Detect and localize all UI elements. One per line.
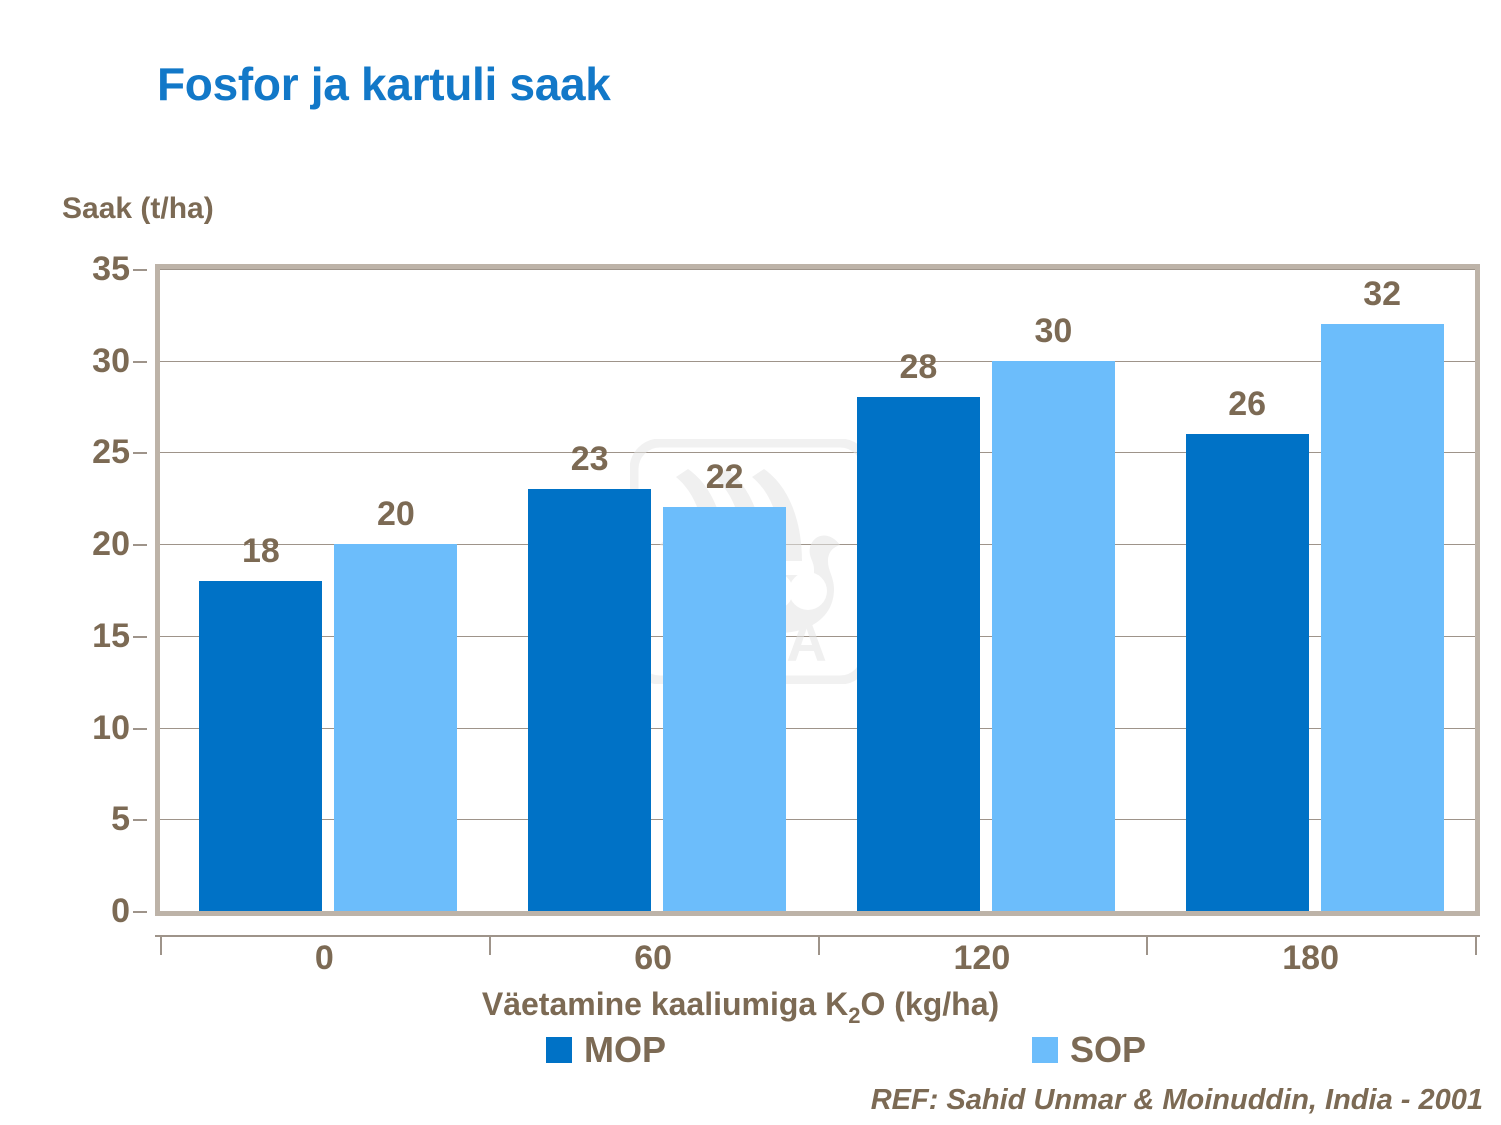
legend-swatch-mop	[546, 1037, 572, 1063]
legend-item-mop[interactable]: MOP	[546, 1032, 666, 1068]
x-axis-tick-label: 120	[922, 940, 1042, 977]
bar-value-label: 30	[992, 314, 1115, 348]
bar-sop-60[interactable]	[663, 507, 786, 911]
bar-value-label: 28	[857, 350, 980, 384]
y-axis-tick-mark	[133, 636, 147, 638]
plot-area: YARA 1820232228302632	[155, 264, 1480, 916]
y-axis-tick-mark	[133, 452, 147, 454]
bar-value-label: 18	[199, 534, 322, 568]
x-axis-title-subscript: 2	[848, 1003, 860, 1028]
x-axis-title: Väetamine kaaliumiga K2O (kg/ha)	[0, 986, 1501, 1023]
y-axis-ticks: 05101520253035	[30, 264, 130, 916]
legend-item-sop[interactable]: SOP	[1032, 1032, 1146, 1068]
y-axis-tick-label: 10	[50, 711, 130, 745]
x-axis-tick-mark	[160, 935, 162, 955]
x-axis-tick-label: 0	[264, 940, 384, 977]
y-axis-tick-mark	[133, 728, 147, 730]
x-axis-title-after: O (kg/ha)	[860, 986, 999, 1022]
x-axis-tick-mark	[489, 935, 491, 955]
bar-value-label: 23	[528, 442, 651, 476]
legend-label-sop: SOP	[1070, 1032, 1146, 1068]
x-axis-tick-mark	[1146, 935, 1148, 955]
y-axis-tick-label: 20	[50, 527, 130, 561]
bar-value-label: 22	[663, 460, 786, 494]
x-axis-tick-label: 60	[593, 940, 713, 977]
y-axis-tick-mark	[133, 544, 147, 546]
x-axis-tick-mark	[818, 935, 820, 955]
gridline	[160, 269, 1475, 270]
bar-mop-120[interactable]	[857, 397, 980, 911]
y-axis-tick-label: 35	[50, 252, 130, 286]
bar-sop-180[interactable]	[1321, 324, 1444, 911]
y-axis-tick-label: 25	[50, 435, 130, 469]
plot-inner: YARA 1820232228302632	[160, 269, 1475, 911]
y-axis-tick-label: 5	[50, 802, 130, 836]
legend-swatch-sop	[1032, 1037, 1058, 1063]
y-axis-tick-label: 30	[50, 344, 130, 378]
reference-note: REF: Sahid Unmar & Moinuddin, India - 20…	[871, 1084, 1483, 1117]
y-axis-tick-label: 0	[50, 894, 130, 928]
page-title: Fosfor ja kartuli saak	[157, 57, 611, 111]
y-axis-tick-mark	[133, 911, 147, 913]
bar-value-label: 20	[334, 497, 457, 531]
x-axis-tick-label: 180	[1251, 940, 1371, 977]
bar-sop-0[interactable]	[334, 544, 457, 911]
bar-mop-0[interactable]	[199, 581, 322, 911]
y-axis-title: Saak (t/ha)	[62, 192, 214, 226]
gridline	[160, 361, 1475, 362]
bar-value-label: 32	[1321, 277, 1444, 311]
x-axis-title-before: Väetamine kaaliumiga K	[482, 986, 848, 1022]
bar-sop-120[interactable]	[992, 361, 1115, 911]
y-axis-tick-mark	[133, 361, 147, 363]
legend-label-mop: MOP	[584, 1032, 666, 1068]
bar-mop-60[interactable]	[528, 489, 651, 911]
y-axis-tick-mark	[133, 819, 147, 821]
y-axis-tick-mark	[133, 269, 147, 271]
y-axis-tick-label: 15	[50, 619, 130, 653]
legend: MOP SOP	[0, 1032, 1501, 1074]
bar-mop-180[interactable]	[1186, 434, 1309, 911]
bar-value-label: 26	[1186, 387, 1309, 421]
x-axis-tick-mark	[1475, 935, 1477, 955]
